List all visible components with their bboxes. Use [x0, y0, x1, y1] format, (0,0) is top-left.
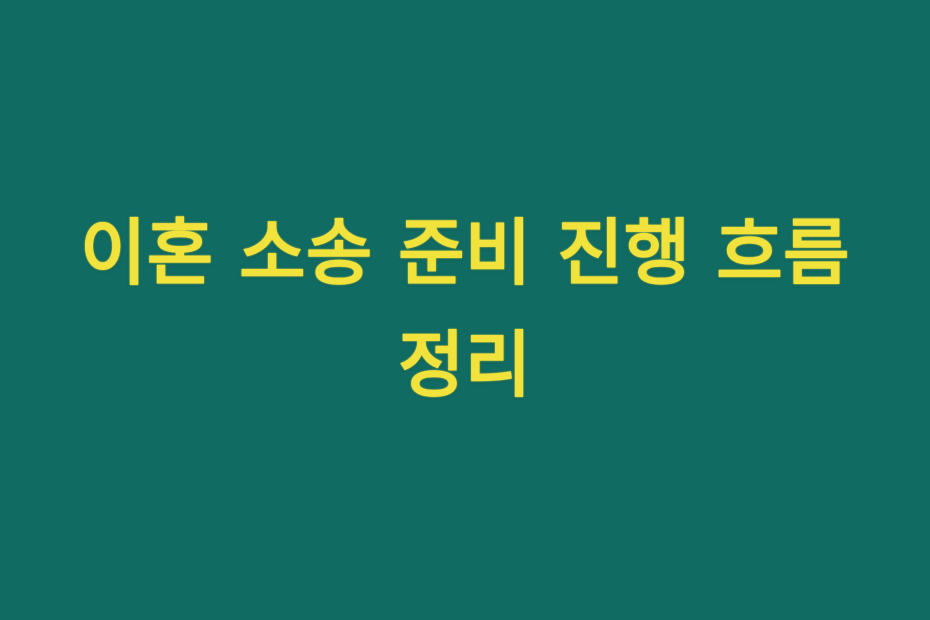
headline-block: 이혼 소송 준비 진행 흐름 정리: [0, 198, 930, 421]
headline-title: 이혼 소송 준비 진행 흐름 정리: [78, 198, 852, 421]
thumbnail-card: 이혼 소송 준비 진행 흐름 정리: [0, 0, 930, 620]
